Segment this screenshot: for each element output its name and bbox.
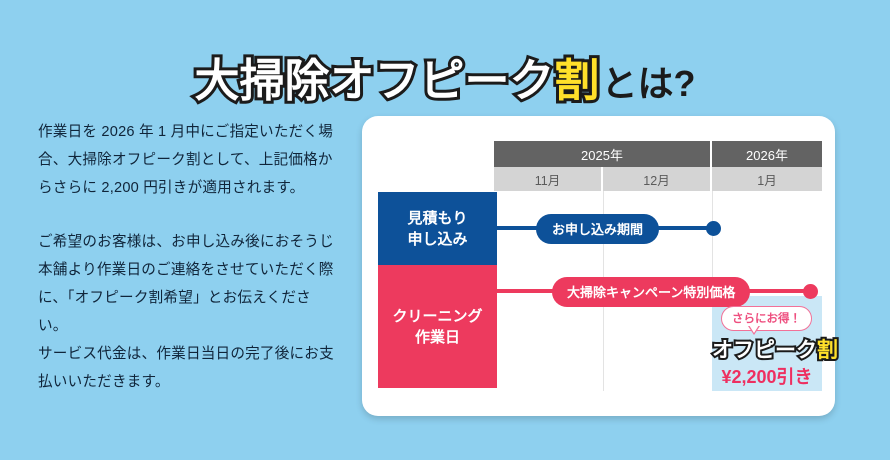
year-header-row: 2025年 2026年 [494,141,822,167]
page-title-main: 大掃除オフピーク [194,55,554,106]
schedule-card: 2025年 2026年 11月 12月 1月 見積もり 申し込み クリーニング … [362,116,835,416]
page-title: 大掃除オフピーク割とは? [0,44,890,109]
month-cell-november: 11月 [494,167,603,191]
description-paragraph-2: ご希望のお客様は、お申し込み後におそうじ本舗より作業日のご連絡をさせていただく際… [38,228,340,396]
month-cell-december: 12月 [603,167,712,191]
campaign-price-pill: 大掃除キャンペーン特別価格 [552,277,750,307]
description-block: 作業日を 2026 年 1 月中にご指定いただく場合、大掃除オフピーク割として、… [38,118,340,396]
application-period-pill: お申し込み期間 [536,214,659,244]
month-cell-january: 1月 [712,167,822,191]
offpeak-name-highlight: 割 [817,339,838,362]
row-label-work-line2: 作業日 [415,327,460,348]
offpeak-discount-price: ¥2,200引き [712,363,822,389]
campaign-price-end-dot [803,284,818,299]
row-label-quote-line2: 申し込み [407,229,467,250]
extra-deal-badge-tail-inner-icon [749,325,759,333]
application-period-end-dot [706,221,721,236]
offpeak-discount-name: オフピーク割 [712,334,822,364]
description-paragraph-1: 作業日を 2026 年 1 月中にご指定いただく場合、大掃除オフピーク割として、… [38,118,340,202]
year-cell-2025: 2025年 [494,141,712,167]
extra-deal-badge: さらにお得！ [721,306,812,331]
row-label-quote-application: 見積もり 申し込み [378,192,497,265]
row-label-cleaning-workday: クリーニング 作業日 [378,265,497,388]
year-cell-2026: 2026年 [712,141,822,167]
row-label-quote-line1: 見積もり [407,208,467,229]
page-title-tail: とは? [602,63,696,104]
page-title-highlight: 割 [555,55,600,106]
offpeak-name-main: オフピーク [712,339,817,362]
month-header-row: 11月 12月 1月 [494,167,822,191]
row-label-work-line1: クリーニング [392,306,482,327]
paragraph-spacer [38,202,340,228]
